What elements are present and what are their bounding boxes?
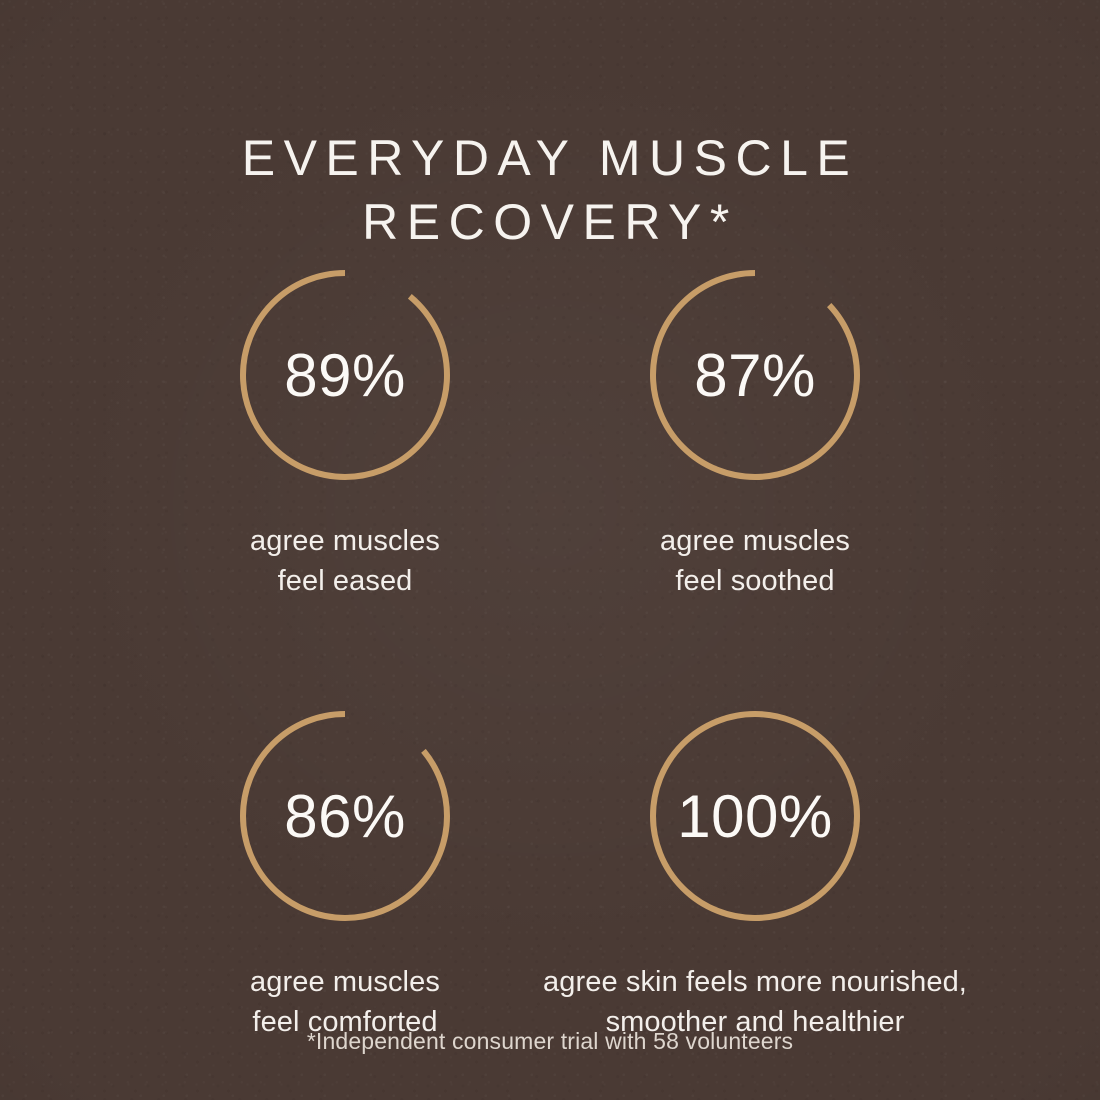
stat-cell-muscles-eased: 89% agree muscles feel eased	[140, 270, 550, 601]
donut-value-label: 86%	[240, 711, 450, 921]
donut-value-label: 87%	[650, 270, 860, 480]
page-title: EVERYDAY MUSCLE RECOVERY*	[0, 126, 1100, 254]
donut-value-label: 89%	[240, 270, 450, 480]
donut-gauge-100: 100%	[650, 711, 860, 921]
stat-cell-muscles-comforted: 86% agree muscles feel comforted	[140, 711, 550, 1042]
stat-row-bottom: 86% agree muscles feel comforted 100% ag…	[0, 711, 1100, 1042]
donut-gauge-86: 86%	[240, 711, 450, 921]
donut-gauge-87: 87%	[650, 270, 860, 480]
footnote-text: *Independent consumer trial with 58 volu…	[0, 1028, 1100, 1055]
stat-grid: 89% agree muscles feel eased 87% agree m…	[0, 270, 1100, 1042]
donut-value-label: 100%	[650, 711, 860, 921]
stat-caption: agree muscles feel eased	[250, 521, 440, 601]
stat-caption: agree muscles feel soothed	[660, 521, 850, 601]
stat-cell-muscles-soothed: 87% agree muscles feel soothed	[550, 270, 960, 601]
donut-gauge-89: 89%	[240, 270, 450, 480]
poster-canvas: EVERYDAY MUSCLE RECOVERY* 89% agree musc…	[0, 0, 1100, 1100]
stat-cell-skin-nourished: 100% agree skin feels more nourished, sm…	[550, 711, 960, 1042]
stat-row-top: 89% agree muscles feel eased 87% agree m…	[0, 270, 1100, 601]
poster-content: EVERYDAY MUSCLE RECOVERY* 89% agree musc…	[0, 0, 1100, 1100]
